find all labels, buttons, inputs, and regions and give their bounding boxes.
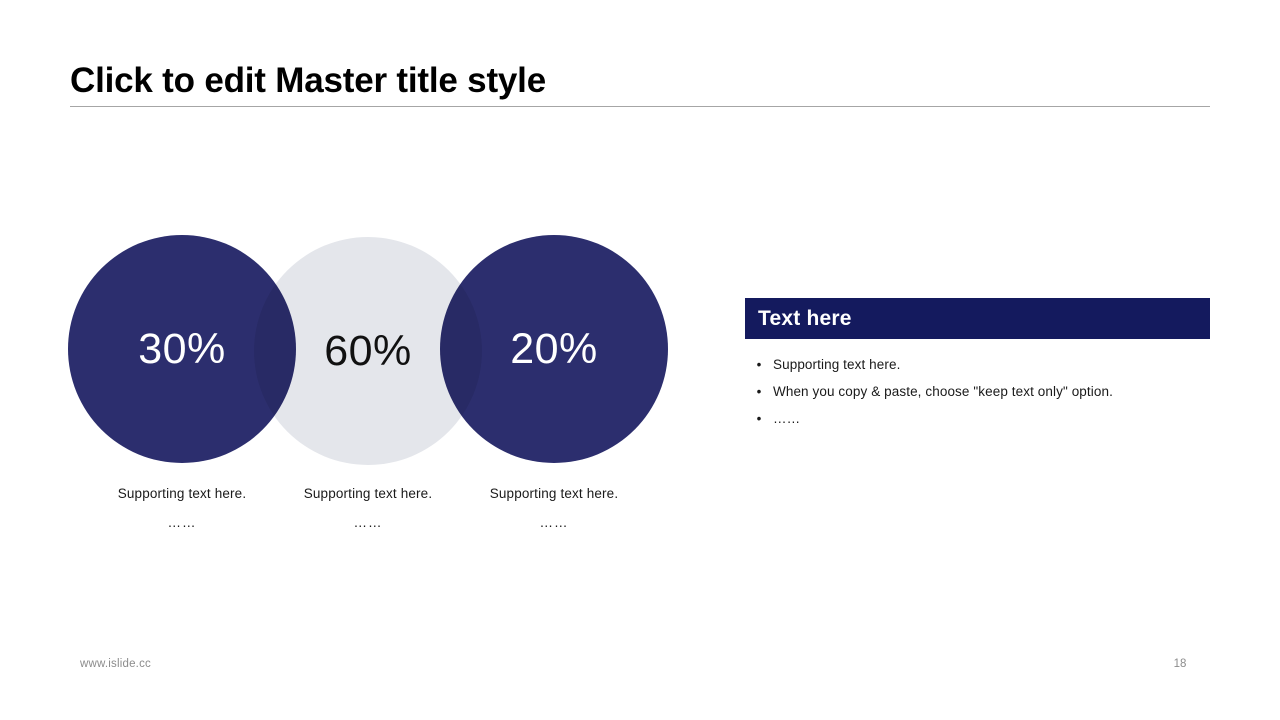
bullet-icon: • [745,351,773,378]
percentage-circle-1[interactable]: 30% [68,235,296,463]
circle-captions: Supporting text here. …… Supporting text… [68,484,668,544]
title-placeholder[interactable]: Click to edit Master title style [70,58,1210,108]
list-item[interactable]: • When you copy & paste, choose "keep te… [745,378,1210,405]
list-item-text: Supporting text here. [773,351,900,378]
bullet-icon: • [745,405,773,432]
list-item-text: When you copy & paste, choose "keep text… [773,378,1113,405]
panel-header-bar[interactable]: Text here [745,298,1210,339]
page-title: Click to edit Master title style [70,58,1210,104]
percentage-circle-3[interactable]: 20% [440,235,668,463]
caption-block-3[interactable]: Supporting text here. …… [440,484,668,532]
percentage-label-1: 30% [138,328,226,371]
list-item[interactable]: • …… [745,405,1210,432]
list-item-text: …… [773,405,800,432]
panel-bullet-list: • Supporting text here. • When you copy … [745,339,1210,432]
footer-url[interactable]: www.islide.cc [80,658,151,670]
caption-subtext-3: …… [440,513,668,532]
circle-chart-group: 60% 30% 20% [68,235,668,465]
bullet-icon: • [745,378,773,405]
title-divider [70,106,1210,107]
percentage-label-3: 20% [510,328,598,371]
text-panel: Text here • Supporting text here. • When… [745,298,1210,432]
page-number: 18 [1150,658,1210,670]
caption-text-3: Supporting text here. [440,484,668,503]
list-item[interactable]: • Supporting text here. [745,351,1210,378]
panel-header-title: Text here [758,307,852,331]
percentage-label-2: 60% [324,330,412,373]
slide-canvas: Click to edit Master title style 60% 30%… [0,0,1280,720]
